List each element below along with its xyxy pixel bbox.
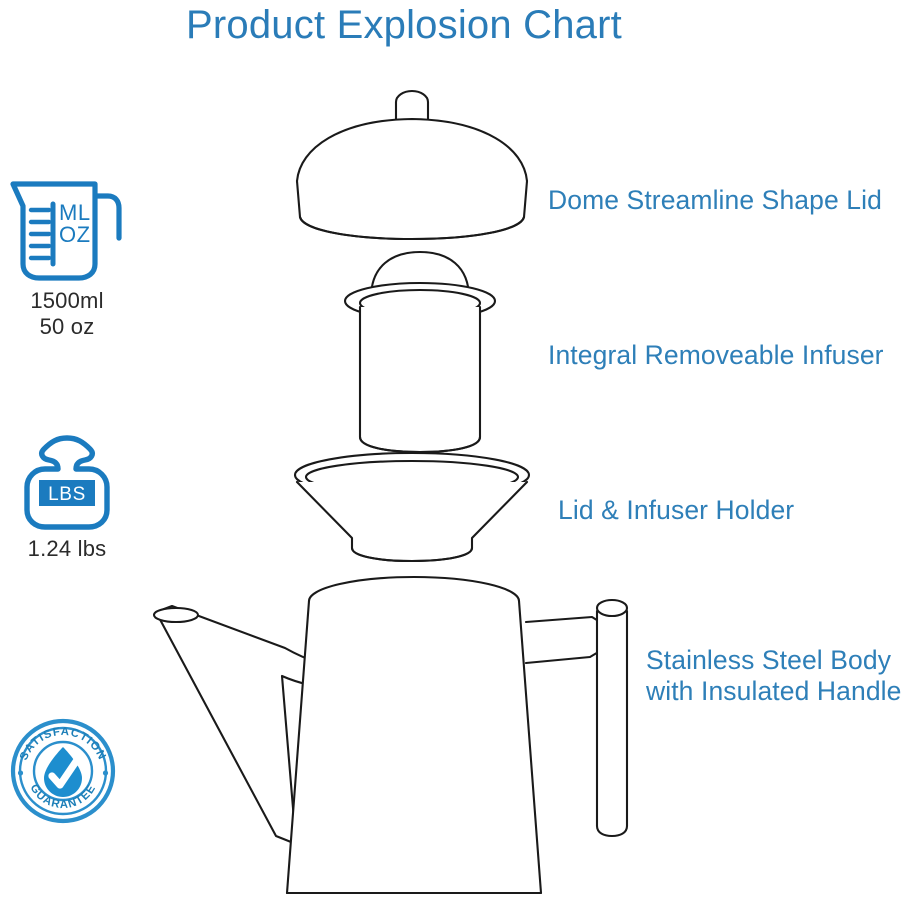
exploded-product-drawing [0,0,920,913]
callout-label-body: Stainless Steel Body with Insulated Hand… [646,645,901,707]
spec-weight-value: 1.24 lbs [2,536,132,562]
satisfaction-guarantee-badge-icon: SATISFACTION GUARANTEE [8,716,118,826]
weight-lbs-text: LBS [48,484,86,505]
product-explosion-chart-page: Product Explosion Chart [0,0,920,913]
part-dome-streamline-shape-lid[interactable] [297,91,527,239]
spec-volume-oz: 50 oz [40,314,95,339]
spec-weight: LBS 1.24 lbs [2,432,132,562]
callout-label-lid: Dome Streamline Shape Lid [548,185,882,216]
checkmark-droplet-icon [44,747,82,797]
callout-label-body-line1: Stainless Steel Body [646,645,901,676]
callout-label-body-line2: with Insulated Handle [646,676,901,707]
page-title: Product Explosion Chart [186,0,746,54]
callout-label-holder: Lid & Infuser Holder [558,495,794,526]
spec-volume-ml: 1500ml [30,288,103,313]
measuring-cup-icon: ML OZ [9,176,125,284]
measuring-cup-oz-text: OZ [59,222,91,247]
spec-volume-value: 1500ml 50 oz [2,288,132,340]
part-lid-and-infuser-holder[interactable] [295,453,529,561]
spec-volume: ML OZ 1500ml 50 oz [2,176,132,340]
weight-icon: LBS [21,432,113,532]
part-integral-removeable-infuser[interactable] [345,252,495,452]
part-stainless-steel-body[interactable] [154,577,627,893]
callout-label-infuser: Integral Removeable Infuser [548,340,884,371]
